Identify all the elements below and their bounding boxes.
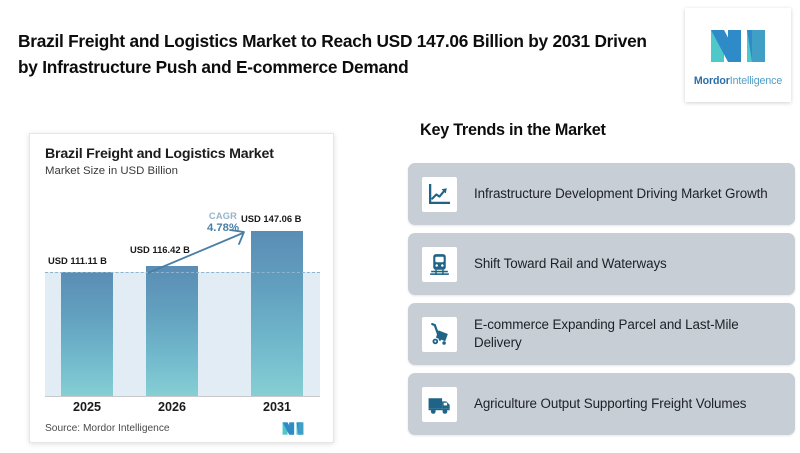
chart-source-logo-icon (278, 420, 308, 437)
brand-name-bold: Mordor (694, 75, 730, 87)
header: Brazil Freight and Logistics Market to R… (0, 0, 800, 112)
trend-card-agriculture[interactable]: Agriculture Output Supporting Freight Vo… (408, 373, 795, 435)
trend-card-infrastructure[interactable]: Infrastructure Development Driving Marke… (408, 163, 795, 225)
train-icon (422, 247, 457, 282)
chart-subtitle: Market Size in USD Billion (45, 165, 178, 177)
cagr-arrow-icon (45, 189, 320, 397)
market-size-chart-card: Brazil Freight and Logistics Market Mark… (29, 133, 334, 443)
mordor-logo-mark (707, 24, 769, 68)
key-trends-heading: Key Trends in the Market (420, 121, 606, 140)
brand-logo-text: MordorIntelligence (694, 75, 782, 87)
trend-label-rail-waterways: Shift Toward Rail and Waterways (474, 255, 667, 273)
trend-card-rail-waterways[interactable]: Shift Toward Rail and Waterways (408, 233, 795, 295)
chart-plot-area: USD 111.11 B USD 116.42 B USD 147.06 B C… (45, 189, 320, 397)
x-tick-2026: 2026 (141, 400, 203, 414)
delivery-truck-icon (422, 387, 457, 422)
trend-label-ecommerce: E-commerce Expanding Parcel and Last-Mil… (474, 316, 785, 352)
brand-name-light: Intelligence (730, 75, 782, 87)
chart-source: Source: Mordor Intelligence (45, 423, 170, 434)
chart-x-axis: 2025 2026 2031 (45, 400, 320, 418)
page-title: Brazil Freight and Logistics Market to R… (18, 28, 658, 81)
x-tick-2025: 2025 (56, 400, 118, 414)
trend-label-infrastructure: Infrastructure Development Driving Marke… (474, 185, 768, 203)
trend-label-agriculture: Agriculture Output Supporting Freight Vo… (474, 395, 746, 413)
brand-logo: MordorIntelligence (685, 8, 791, 102)
x-tick-2031: 2031 (246, 400, 308, 414)
trend-card-ecommerce[interactable]: E-commerce Expanding Parcel and Last-Mil… (408, 303, 795, 365)
hand-truck-icon (422, 317, 457, 352)
chart-title: Brazil Freight and Logistics Market (45, 146, 274, 162)
line-chart-growth-icon (422, 177, 457, 212)
